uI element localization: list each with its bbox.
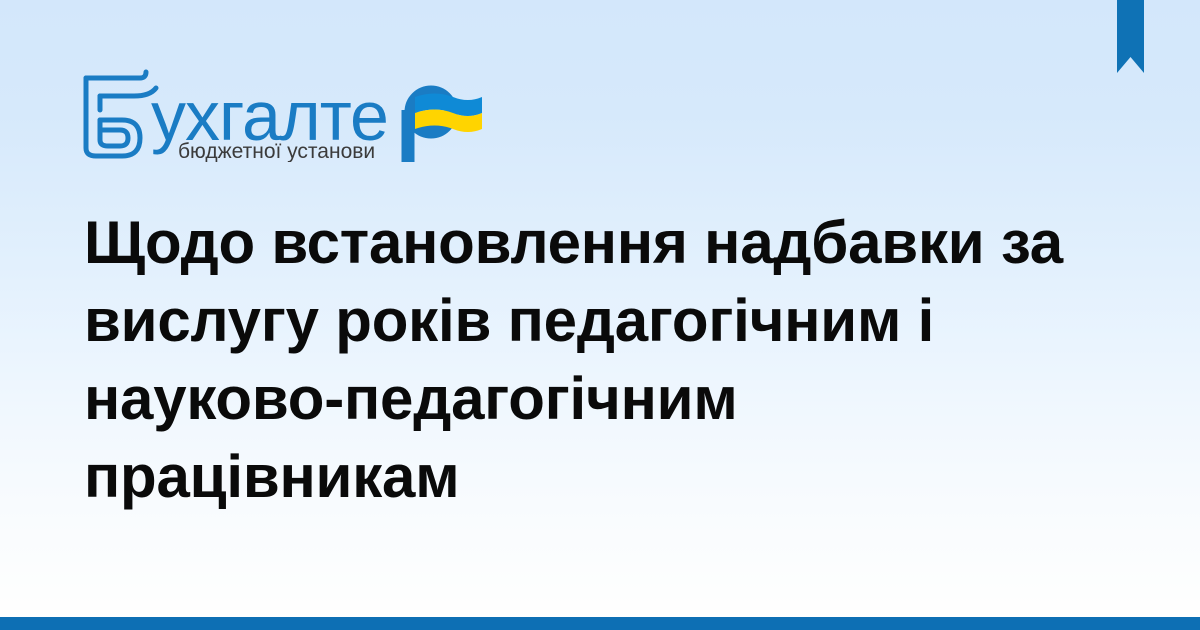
share-card: ухгалте бюджетної установи Щодо встановл… [0, 0, 1200, 630]
site-logo[interactable]: ухгалте бюджетної установи [78, 66, 488, 162]
bookmark-ribbon-icon[interactable] [1117, 0, 1144, 73]
bottom-accent-bar [0, 617, 1200, 630]
logo-tagline-text: бюджетної установи [178, 140, 375, 162]
page-title: Щодо встановлення надбавки за вислугу ро… [84, 204, 1114, 516]
page-title-line: вислугу років педагогічним і [84, 282, 1114, 360]
page-title-line: науково-педагогічним [84, 360, 1114, 438]
ukraine-flag-icon [415, 94, 482, 133]
page-title-line: працівникам [84, 438, 1114, 516]
logo-letter-b-icon [86, 72, 156, 156]
page-title-line: Щодо встановлення надбавки за [84, 204, 1114, 282]
logo-artwork: ухгалте бюджетної установи [78, 66, 488, 162]
